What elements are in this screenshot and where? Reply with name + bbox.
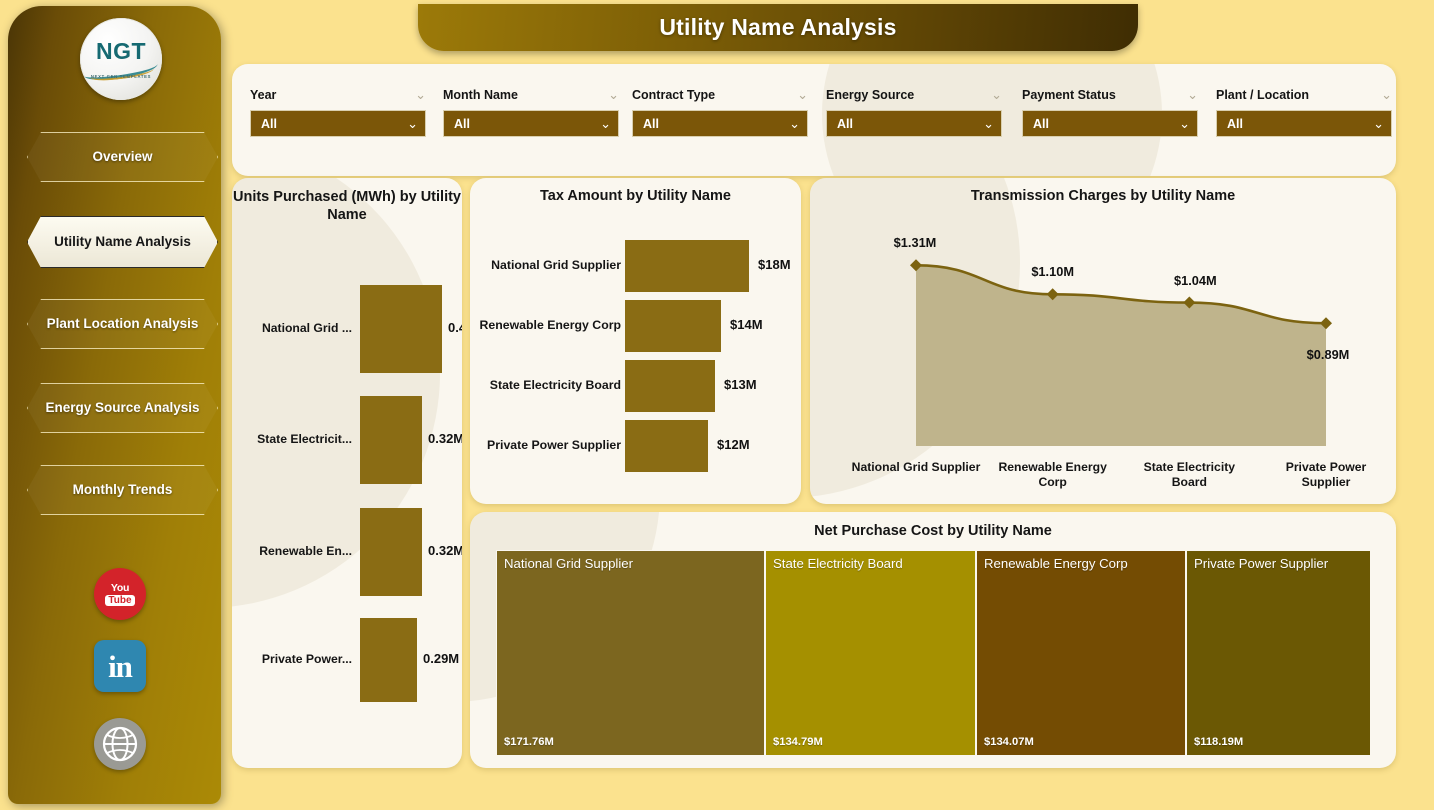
slicer-label: Year ⌄: [250, 87, 426, 103]
bar-segment[interactable]: [625, 240, 749, 292]
chevron-down-icon[interactable]: ⌄: [1187, 87, 1198, 103]
treemap-tile-value: $134.79M: [773, 736, 823, 748]
treemap-tile-value: $134.07M: [984, 736, 1034, 748]
treemap-tile-value: $118.19M: [1194, 736, 1243, 748]
globe-glyph: [100, 724, 140, 764]
chevron-down-icon: ⌄: [407, 116, 418, 132]
bar-segment[interactable]: [360, 285, 442, 373]
treemap-tile-label: Private Power Supplier: [1194, 556, 1328, 571]
slicer-energy-source[interactable]: Energy Source ⌄ All ⌄: [826, 87, 1002, 137]
x-axis-tick-label: National Grid Supplier: [851, 460, 981, 475]
slicer-label: Plant / Location ⌄: [1216, 87, 1392, 103]
treemap-tile[interactable]: Private Power Supplier$118.19M: [1186, 550, 1371, 756]
slicer-plant-location[interactable]: Plant / Location ⌄ All ⌄: [1216, 87, 1392, 137]
bar-value-label: 0.32M: [428, 543, 462, 558]
bar-value-label: 0.29M: [423, 651, 459, 666]
treemap-tile-label: National Grid Supplier: [504, 556, 633, 571]
sidebar-item-utility-name-analysis[interactable]: Utility Name Analysis: [27, 216, 218, 268]
bar-segment[interactable]: [360, 618, 417, 702]
bar-category-label: Private Power Supplier: [476, 438, 621, 452]
dashboard-page: NGT NEXT GEN TEMPLATES Overview Utility …: [0, 0, 1434, 810]
treemap-tile-label: State Electricity Board: [773, 556, 903, 571]
slicer-value: All: [837, 117, 853, 131]
slicer-label: Contract Type ⌄: [632, 87, 808, 103]
chevron-down-icon[interactable]: ⌄: [415, 87, 426, 103]
treemap-tile-label: Renewable Energy Corp: [984, 556, 1128, 571]
bar-value-label: $14M: [730, 317, 763, 332]
treemap-tile-value: $171.76M: [504, 736, 554, 748]
chevron-down-icon: ⌄: [600, 116, 611, 132]
bar-segment[interactable]: [360, 396, 422, 484]
sidebar-item-energy-source-analysis[interactable]: Energy Source Analysis: [27, 383, 218, 433]
area-fill: [916, 265, 1326, 446]
chart-title: Net Purchase Cost by Utility Name: [470, 522, 1396, 540]
slicer-dropdown[interactable]: All ⌄: [632, 110, 808, 137]
chevron-down-icon: ⌄: [1373, 116, 1384, 132]
sidebar-item-label: Energy Source Analysis: [45, 401, 199, 416]
bar-value-label: $13M: [724, 377, 757, 392]
slicer-dropdown[interactable]: All ⌄: [443, 110, 619, 137]
bar-segment[interactable]: [360, 508, 422, 596]
bar-segment[interactable]: [625, 360, 715, 412]
chevron-down-icon[interactable]: ⌄: [1381, 87, 1392, 103]
brand-logo: NGT NEXT GEN TEMPLATES: [80, 18, 162, 100]
sidebar-item-label: Monthly Trends: [73, 483, 173, 498]
chart-tax-amount: Tax Amount by Utility Name National Grid…: [470, 178, 801, 504]
area-chart-svg: [810, 178, 1396, 504]
slicer-value: All: [261, 117, 277, 131]
bar-value-label: 0.32M: [428, 431, 462, 446]
chart-transmission-charges: Transmission Charges by Utility Name $1.…: [810, 178, 1396, 504]
bar-category-label: State Electricity Board: [476, 378, 621, 392]
bar-category-label: Private Power...: [242, 652, 352, 666]
slicer-dropdown[interactable]: All ⌄: [826, 110, 1002, 137]
slicer-dropdown[interactable]: All ⌄: [1022, 110, 1198, 137]
sidebar-item-label: Plant Location Analysis: [47, 317, 199, 332]
chevron-down-icon: ⌄: [983, 116, 994, 132]
page-header: Utility Name Analysis: [418, 4, 1138, 51]
slicer-year[interactable]: Year ⌄ All ⌄: [250, 87, 426, 137]
treemap-tile[interactable]: State Electricity Board$134.79M: [765, 550, 976, 756]
bar-category-label: Renewable Energy Corp: [476, 318, 621, 332]
chevron-down-icon[interactable]: ⌄: [991, 87, 1002, 103]
sidebar-item-label: Utility Name Analysis: [54, 235, 191, 250]
bar-value-label: $18M: [758, 257, 791, 272]
x-axis-tick-label: State Electricity Board: [1124, 460, 1254, 491]
chevron-down-icon: ⌄: [789, 116, 800, 132]
youtube-icon-line1: You: [111, 583, 129, 594]
slicer-payment-status[interactable]: Payment Status ⌄ All ⌄: [1022, 87, 1198, 137]
slicer-label: Payment Status ⌄: [1022, 87, 1198, 103]
slicer-dropdown[interactable]: All ⌄: [250, 110, 426, 137]
sidebar: NGT NEXT GEN TEMPLATES Overview Utility …: [8, 6, 221, 804]
x-axis-tick-label: Private Power Supplier: [1261, 460, 1391, 491]
slicer-value: All: [454, 117, 470, 131]
sidebar-item-overview[interactable]: Overview: [27, 132, 218, 182]
chart-title: Units Purchased (MWh) by Utility Name: [232, 188, 462, 224]
chart-net-purchase-cost: Net Purchase Cost by Utility Name Nation…: [470, 512, 1396, 768]
slicer-dropdown[interactable]: All ⌄: [1216, 110, 1392, 137]
website-icon[interactable]: [94, 718, 146, 770]
logo-tagline: NEXT GEN TEMPLATES: [91, 74, 151, 79]
slicer-value: All: [1033, 117, 1049, 131]
chevron-down-icon[interactable]: ⌄: [797, 87, 808, 103]
bar-segment[interactable]: [625, 300, 721, 352]
youtube-icon[interactable]: You Tube: [94, 568, 146, 620]
data-point-label: $1.10M: [1025, 264, 1081, 279]
bar-value-label: $12M: [717, 437, 750, 452]
bar-value-label: 0.42M: [448, 320, 462, 335]
bar-category-label: State Electricit...: [242, 432, 352, 446]
data-point-label: $1.04M: [1167, 273, 1223, 288]
filter-bar: Year ⌄ All ⌄ Month Name ⌄ All ⌄ Contract…: [232, 64, 1396, 176]
data-point-label: $0.89M: [1300, 347, 1356, 362]
treemap-tile[interactable]: National Grid Supplier$171.76M: [496, 550, 765, 756]
x-axis-tick-label: Renewable Energy Corp: [988, 460, 1118, 491]
bar-segment[interactable]: [625, 420, 708, 472]
bar-category-label: National Grid Supplier: [476, 258, 621, 272]
treemap-tile[interactable]: Renewable Energy Corp$134.07M: [976, 550, 1186, 756]
sidebar-item-label: Overview: [92, 150, 152, 165]
bar-category-label: National Grid ...: [242, 321, 352, 335]
chevron-down-icon[interactable]: ⌄: [608, 87, 619, 103]
logo-text: NGT: [96, 40, 146, 63]
slicer-value: All: [643, 117, 659, 131]
slicer-month-name[interactable]: Month Name ⌄ All ⌄: [443, 87, 619, 137]
chevron-down-icon: ⌄: [1179, 116, 1190, 132]
youtube-icon-line2: Tube: [105, 595, 134, 606]
slicer-value: All: [1227, 117, 1243, 131]
sidebar-item-plant-location-analysis[interactable]: Plant Location Analysis: [27, 299, 218, 349]
linkedin-icon[interactable]: in: [94, 640, 146, 692]
data-point-label: $1.31M: [887, 235, 943, 250]
page-title: Utility Name Analysis: [659, 14, 896, 41]
chart-units-purchased: Units Purchased (MWh) by Utility Name Na…: [232, 178, 462, 768]
slicer-contract-type[interactable]: Contract Type ⌄ All ⌄: [632, 87, 808, 137]
slicer-label: Month Name ⌄: [443, 87, 619, 103]
sidebar-item-monthly-trends[interactable]: Monthly Trends: [27, 465, 218, 515]
linkedin-icon-label: in: [108, 651, 132, 682]
slicer-label: Energy Source ⌄: [826, 87, 1002, 103]
chart-title: Tax Amount by Utility Name: [470, 187, 801, 205]
bar-category-label: Renewable En...: [242, 544, 352, 558]
